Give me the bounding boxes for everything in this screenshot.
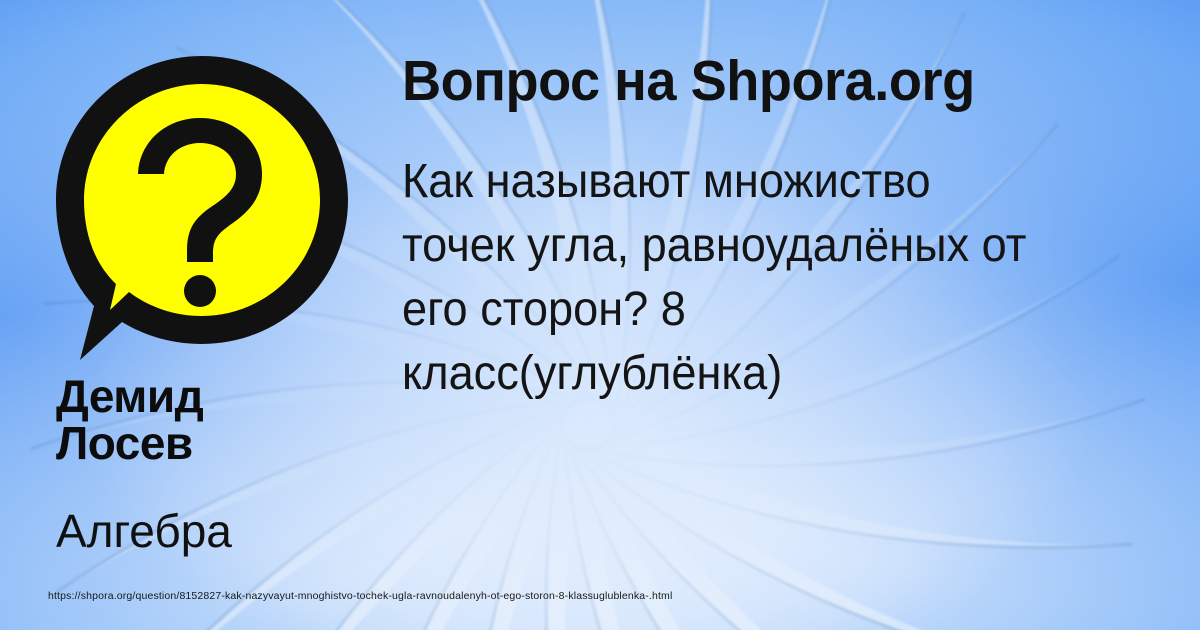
author-subject: Алгебра (56, 505, 396, 557)
page-title: Вопрос на Shpora.org (402, 48, 1153, 114)
author-name-line: Демид (56, 373, 386, 420)
question-share-card: Вопрос на Shpora.org Как называют множис… (0, 0, 1200, 630)
question-line: класс(углублёнка) (402, 342, 1145, 406)
question-line: его сторон? 8 (402, 278, 1145, 342)
question-text: Как называют множиство точек угла, равно… (402, 150, 1145, 406)
question-line: точек угла, равноудалёных от (402, 214, 1145, 278)
author-name-line: Лосев (56, 420, 386, 467)
source-url[interactable]: https://shpora.org/question/8152827-kak-… (48, 589, 672, 603)
question-speech-bubble-icon (50, 48, 360, 368)
author-name: Демид Лосев (56, 373, 386, 467)
question-line: Как называют множиство (402, 150, 1145, 214)
